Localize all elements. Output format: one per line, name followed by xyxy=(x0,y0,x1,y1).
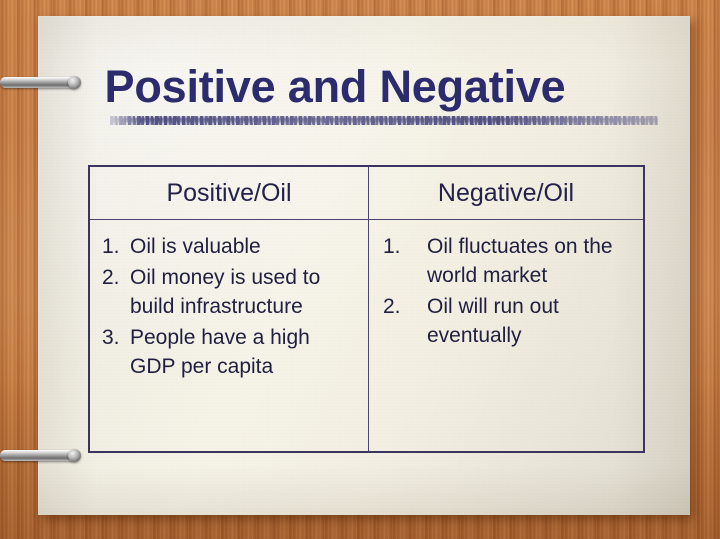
positive-point-list: 1. Oil is valuable 2. Oil money is used … xyxy=(96,232,360,381)
title-block: Positive and Negative xyxy=(50,62,620,112)
list-item-number: 3. xyxy=(96,323,130,352)
table-cell-positive: 1. Oil is valuable 2. Oil money is used … xyxy=(90,220,369,451)
comparison-table: Positive/Oil Negative/Oil 1. Oil is valu… xyxy=(88,165,645,453)
list-item-text: Oil will run out eventually xyxy=(427,292,633,350)
list-item-number: 1. xyxy=(96,232,130,261)
list-item-text: Oil money is used to build infrastructur… xyxy=(130,263,352,321)
list-item-number: 1. xyxy=(375,232,427,261)
title-underline-decoration xyxy=(110,116,658,125)
list-item: 3. People have a high GDP per capita xyxy=(96,323,360,381)
list-item-number: 2. xyxy=(96,263,130,292)
page-title: Positive and Negative xyxy=(50,62,620,112)
list-item-text: Oil fluctuates on the world market xyxy=(427,232,633,290)
list-item: 2. Oil money is used to build infrastruc… xyxy=(96,263,360,321)
table-header-negative: Negative/Oil xyxy=(369,167,643,219)
slide-content: Positive and Negative Positive/Oil Negat… xyxy=(0,0,720,539)
list-item-number: 2. xyxy=(375,292,427,321)
table-body-row: 1. Oil is valuable 2. Oil money is used … xyxy=(90,220,643,451)
list-item: 1. Oil fluctuates on the world market xyxy=(375,232,635,290)
list-item: 2. Oil will run out eventually xyxy=(375,292,635,350)
table-header-positive: Positive/Oil xyxy=(90,167,369,219)
slide-stage: Positive and Negative Positive/Oil Negat… xyxy=(0,0,720,539)
list-item: 1. Oil is valuable xyxy=(96,232,360,261)
negative-point-list: 1. Oil fluctuates on the world market 2.… xyxy=(375,232,635,350)
list-item-text: People have a high GDP per capita xyxy=(130,323,352,381)
list-item-text: Oil is valuable xyxy=(130,232,352,261)
table-cell-negative: 1. Oil fluctuates on the world market 2.… xyxy=(369,220,643,451)
table-header-row: Positive/Oil Negative/Oil xyxy=(90,167,643,220)
